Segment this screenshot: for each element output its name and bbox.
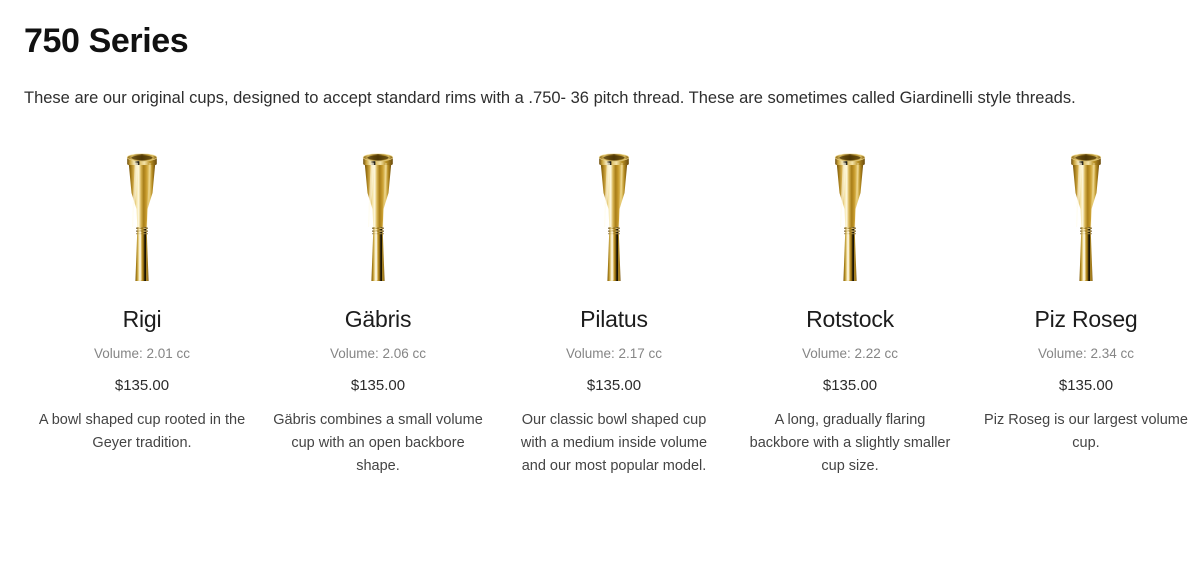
product-image[interactable] <box>732 147 968 287</box>
product-volume: Volume: 2.22 cc <box>802 334 898 364</box>
product-image[interactable] <box>968 147 1200 287</box>
product-description: Our classic bowl shaped cup with a mediu… <box>509 397 719 478</box>
product-description: Gäbris combines a small volume cup with … <box>273 397 483 478</box>
product-image[interactable] <box>24 147 260 287</box>
product-name: Pilatus <box>580 287 648 334</box>
product-price: $135.00 <box>1059 364 1113 397</box>
trumpet-mouthpiece-icon <box>114 147 170 283</box>
trumpet-mouthpiece-icon <box>586 147 642 283</box>
product-description: A long, gradually flaring backbore with … <box>745 397 955 478</box>
series-description: These are our original cups, designed to… <box>24 64 1154 113</box>
product-description: A bowl shaped cup rooted in the Geyer tr… <box>37 397 247 455</box>
page-title: 750 Series <box>24 0 1176 64</box>
trumpet-mouthpiece-icon <box>350 147 406 283</box>
product-volume: Volume: 2.06 cc <box>330 334 426 364</box>
product-name: Rigi <box>123 287 162 334</box>
product-card[interactable]: RotstockVolume: 2.22 cc$135.00A long, gr… <box>732 147 968 478</box>
product-card[interactable]: Piz RosegVolume: 2.34 cc$135.00Piz Roseg… <box>968 147 1200 455</box>
product-image[interactable] <box>260 147 496 287</box>
product-card[interactable]: PilatusVolume: 2.17 cc$135.00Our classic… <box>496 147 732 478</box>
product-price: $135.00 <box>351 364 405 397</box>
trumpet-mouthpiece-icon <box>1058 147 1114 283</box>
product-card[interactable]: GäbrisVolume: 2.06 cc$135.00Gäbris combi… <box>260 147 496 478</box>
trumpet-mouthpiece-icon <box>822 147 878 283</box>
product-price: $135.00 <box>823 364 877 397</box>
product-volume: Volume: 2.34 cc <box>1038 334 1134 364</box>
product-name: Gäbris <box>345 287 412 334</box>
product-volume: Volume: 2.01 cc <box>94 334 190 364</box>
product-price: $135.00 <box>587 364 641 397</box>
product-card[interactable]: RigiVolume: 2.01 cc$135.00A bowl shaped … <box>24 147 260 455</box>
product-image[interactable] <box>496 147 732 287</box>
page-container: 750 Series These are our original cups, … <box>0 0 1200 478</box>
product-name: Rotstock <box>806 287 894 334</box>
product-grid: RigiVolume: 2.01 cc$135.00A bowl shaped … <box>24 113 1176 478</box>
product-volume: Volume: 2.17 cc <box>566 334 662 364</box>
product-description: Piz Roseg is our largest volume cup. <box>981 397 1191 455</box>
product-price: $135.00 <box>115 364 169 397</box>
product-name: Piz Roseg <box>1034 287 1137 334</box>
